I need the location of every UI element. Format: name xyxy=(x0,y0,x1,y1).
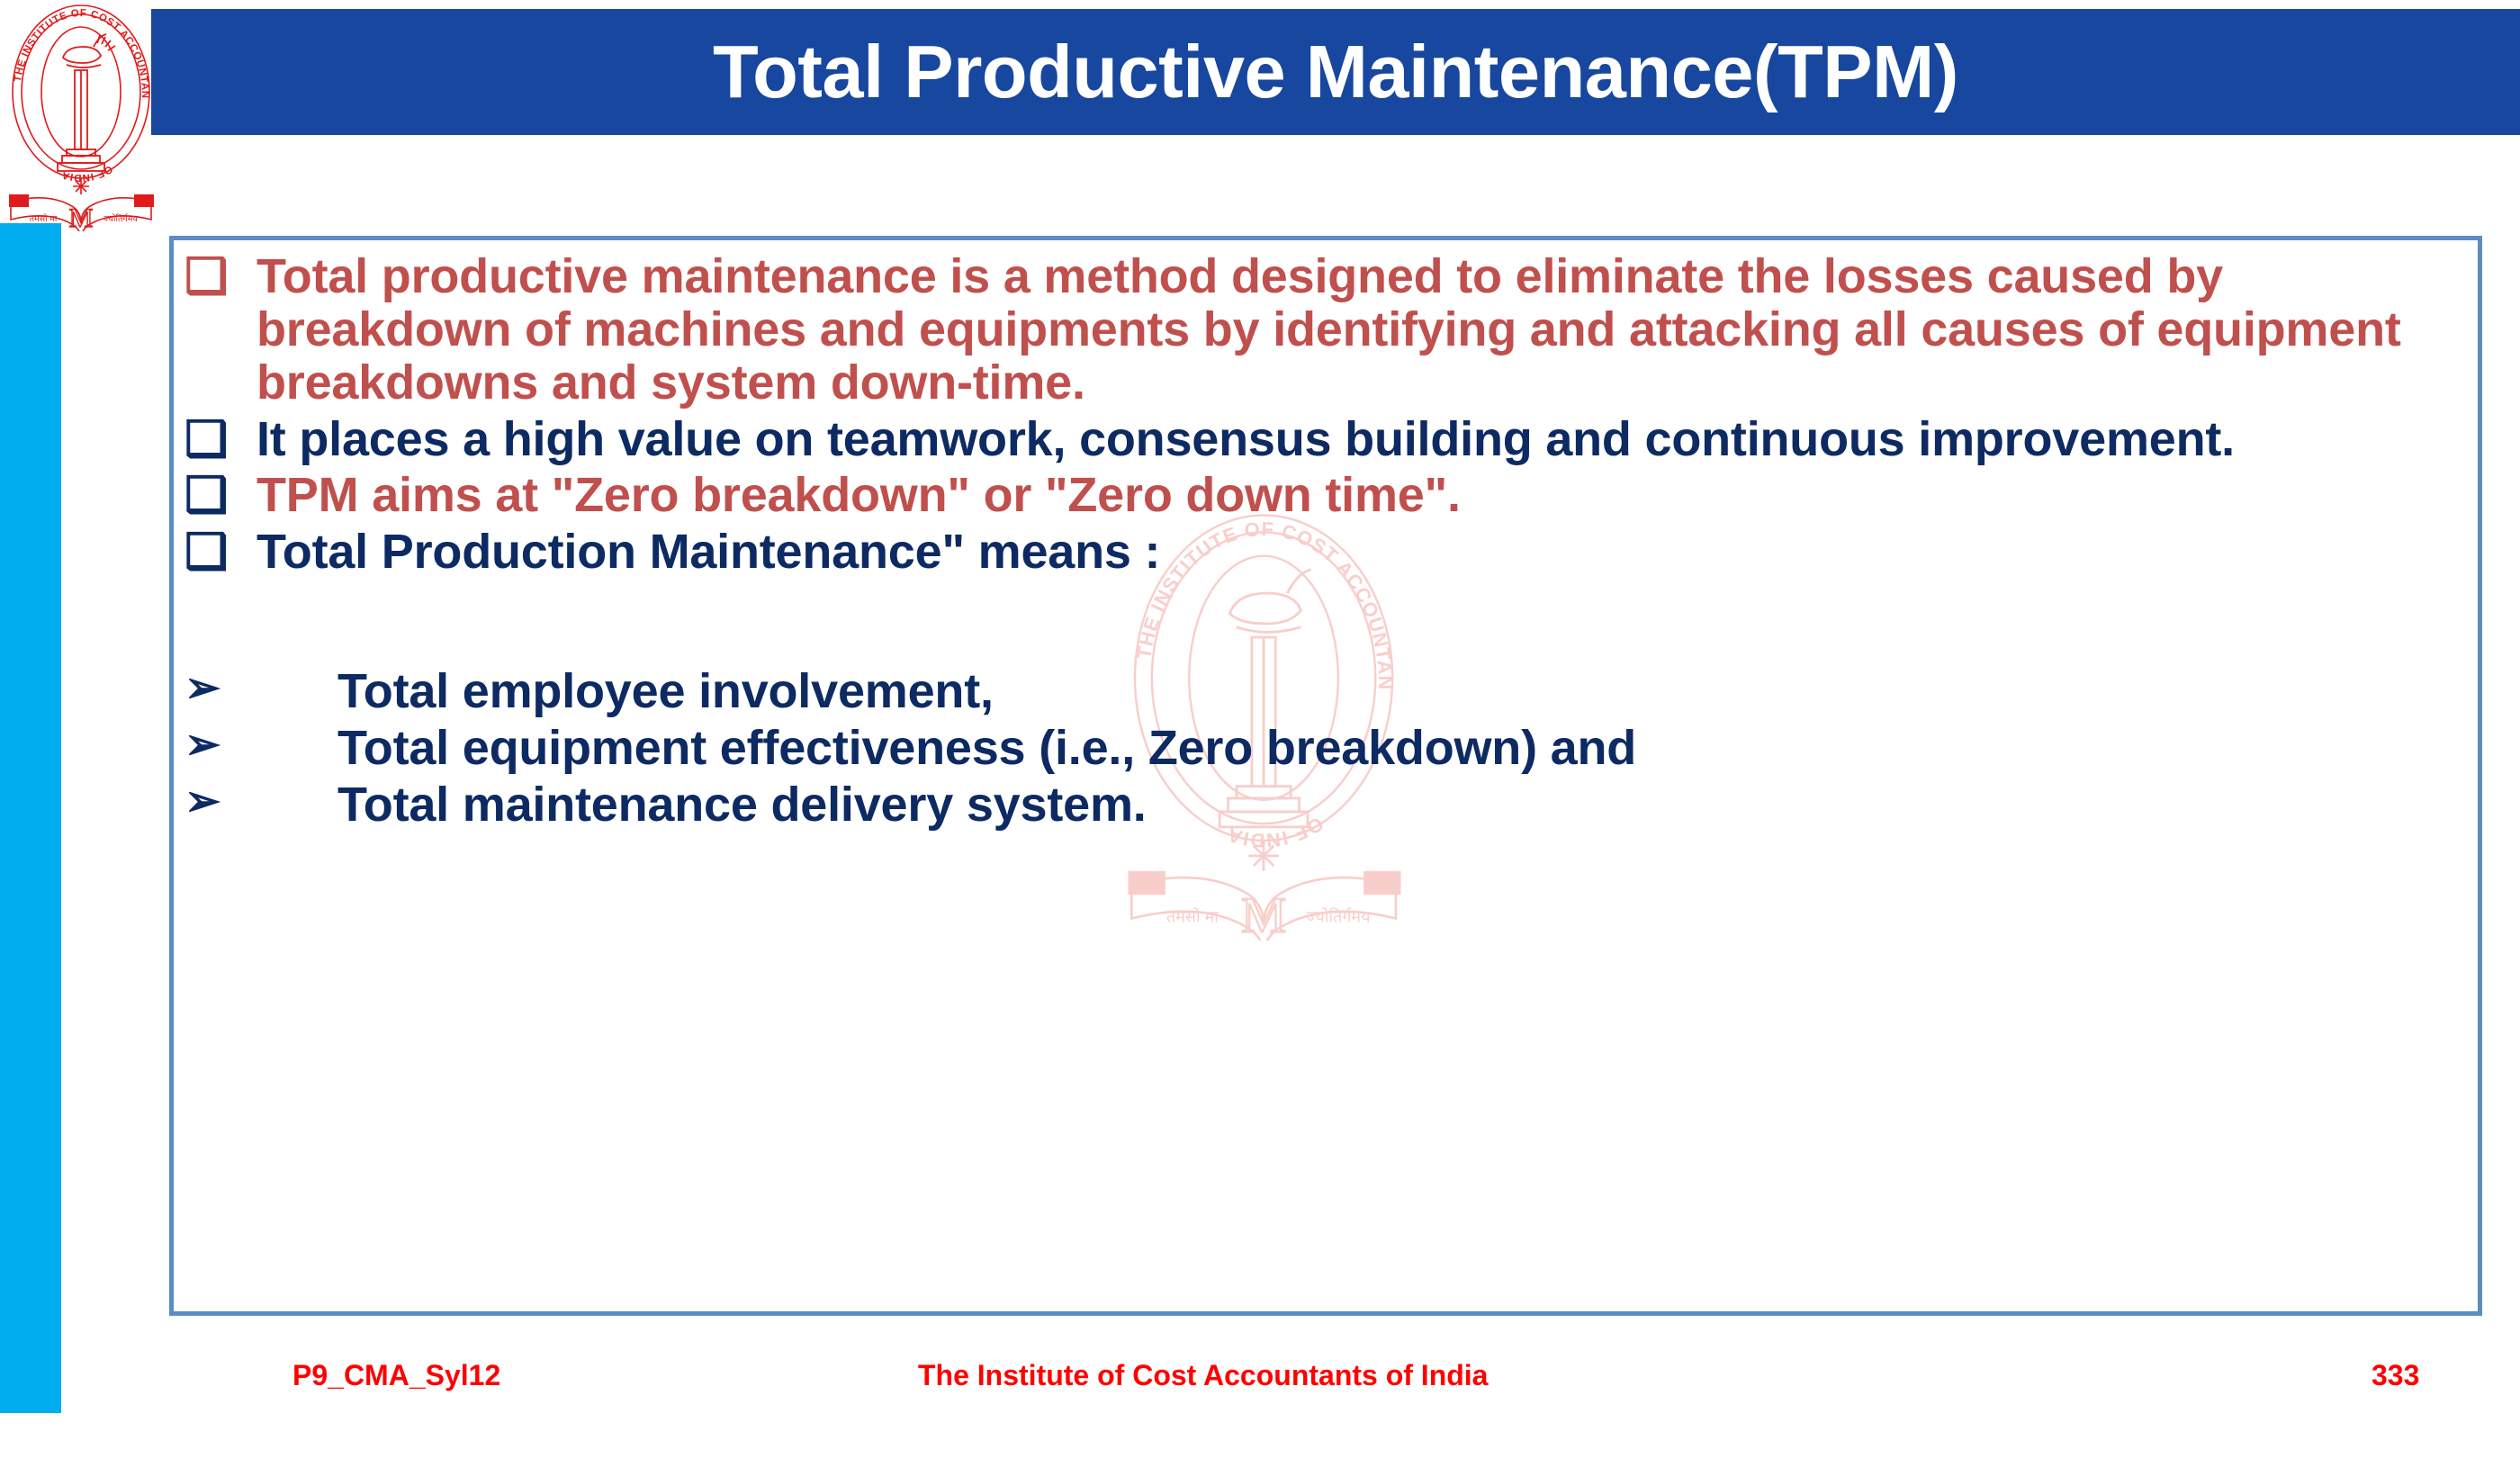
sub-bullet-text: Total employee involvement, xyxy=(247,665,2475,718)
arrow-bullet-icon: ➢ xyxy=(184,722,247,769)
footer: P9_CMA_Syl12 The Institute of Cost Accou… xyxy=(0,1359,2520,1422)
svg-text:OF INDIA: OF INDIA xyxy=(60,163,114,183)
list-item: ➢ Total employee involvement, xyxy=(184,665,2475,718)
bullet-text: TPM aims at "Zero breakdown" or "Zero do… xyxy=(247,469,2475,522)
footer-page-number: 333 xyxy=(2371,1359,2419,1392)
monogram-text: M xyxy=(69,203,94,231)
bullet-text: It places a high value on teamwork, cons… xyxy=(247,413,2475,466)
square-bullet-icon: ❑ xyxy=(184,413,247,465)
left-accent-bar xyxy=(0,223,61,1413)
institute-logo-icon: THE INSTITUTE OF COST ACCOUNTANTS OF IND… xyxy=(7,2,156,231)
list-item: ❑ It places a high value on teamwork, co… xyxy=(184,413,2475,466)
motto-left-text: तमसो मा xyxy=(30,213,58,224)
list-item: ❑ Total Production Maintenance" means : xyxy=(184,526,2475,579)
list-spacer xyxy=(184,582,2475,665)
footer-institute-name: The Institute of Cost Accountants of Ind… xyxy=(918,1359,1488,1392)
institute-logo: THE INSTITUTE OF COST ACCOUNTANTS OF IND… xyxy=(7,2,156,231)
bullet-text: Total Production Maintenance" means : xyxy=(247,526,2475,579)
list-item: ➢ Total equipment effectiveness (i.e., Z… xyxy=(184,722,2475,775)
list-item: ❑ TPM aims at "Zero breakdown" or "Zero … xyxy=(184,469,2475,522)
square-bullet-icon: ❑ xyxy=(184,250,247,302)
bullet-text: Total productive maintenance is a method… xyxy=(247,250,2475,409)
sub-bullet-text: Total maintenance delivery system. xyxy=(247,778,2475,832)
sub-bullet-text: Total equipment effectiveness (i.e., Zer… xyxy=(247,722,2475,775)
bullet-list: ❑ Total productive maintenance is a meth… xyxy=(184,250,2475,835)
footer-syllabus-code: P9_CMA_Syl12 xyxy=(292,1359,500,1392)
motto-right-text: ज्योतिर्गमय xyxy=(103,213,138,224)
arrow-bullet-icon: ➢ xyxy=(184,778,247,825)
square-bullet-icon: ❑ xyxy=(184,469,247,521)
arrow-bullet-icon: ➢ xyxy=(184,665,247,712)
list-item: ➢ Total maintenance delivery system. xyxy=(184,778,2475,832)
list-item: ❑ Total productive maintenance is a meth… xyxy=(184,250,2475,409)
page-title: Total Productive Maintenance(TPM) xyxy=(151,9,2520,135)
svg-text:THE INSTITUTE OF COST ACCOUNTA: THE INSTITUTE OF COST ACCOUNTANTS xyxy=(7,2,150,99)
square-bullet-icon: ❑ xyxy=(184,526,247,578)
